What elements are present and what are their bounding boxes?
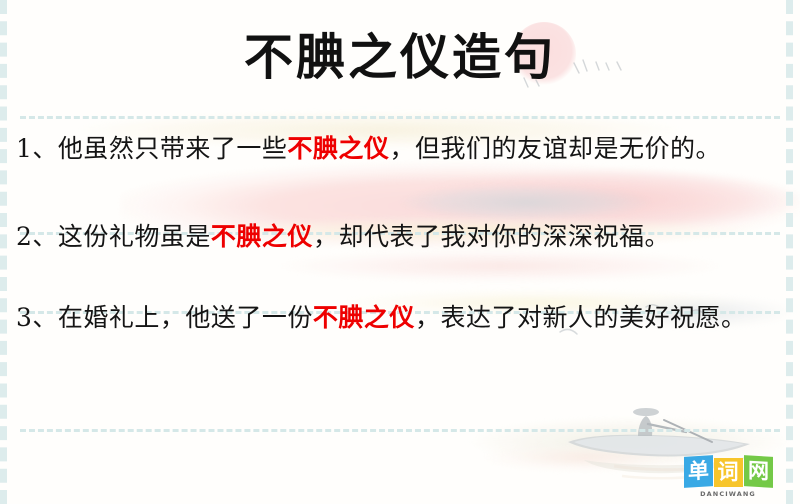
list-item: 3、在婚礼上，他送了一份不腆之仪，表达了对新人的美好祝愿。 (0, 297, 800, 338)
keyword-highlight: 不腆之仪 (287, 134, 389, 163)
list-item: 2、这份礼物虽是不腆之仪，却代表了我对你的深深祝福。 (0, 216, 800, 257)
sentence-text-after: ，表达了对新人的美好祝愿。 (415, 303, 747, 332)
logo-caption: DANCIWANG (678, 490, 778, 498)
sentence-text-before: 他虽然只带来了一些 (58, 134, 288, 163)
divider-rule-4 (20, 429, 780, 432)
page-title: 不腆之仪造句 (0, 18, 800, 89)
site-logo[interactable]: 单 词 网 DANCIWANG (678, 456, 778, 498)
sentence-index: 2、 (16, 222, 58, 251)
logo-char-1: 单 (684, 455, 713, 488)
logo-char-3: 网 (744, 455, 773, 488)
sentence-index: 3、 (16, 303, 58, 332)
divider-rule-1 (20, 116, 780, 119)
slide-canvas: 不腆之仪造句 1、他虽然只带来了一些不腆之仪，但我们的友谊却是无价的。 2、这份… (0, 0, 800, 504)
sentence-text-before: 这份礼物虽是 (58, 222, 211, 251)
sentence-list: 1、他虽然只带来了一些不腆之仪，但我们的友谊却是无价的。 2、这份礼物虽是不腆之… (0, 128, 800, 338)
list-item: 1、他虽然只带来了一些不腆之仪，但我们的友谊却是无价的。 (0, 128, 800, 169)
logo-char-2: 词 (714, 458, 743, 487)
sentence-index: 1、 (16, 134, 58, 163)
sentence-text-after: ，但我们的友谊却是无价的。 (389, 134, 721, 163)
sentence-text-before: 在婚礼上，他送了一份 (58, 303, 313, 332)
sentence-text-after: ，却代表了我对你的深深祝福。 (313, 222, 670, 251)
logo-blocks: 单 词 网 (678, 456, 778, 487)
keyword-highlight: 不腆之仪 (313, 303, 415, 332)
keyword-highlight: 不腆之仪 (211, 222, 313, 251)
